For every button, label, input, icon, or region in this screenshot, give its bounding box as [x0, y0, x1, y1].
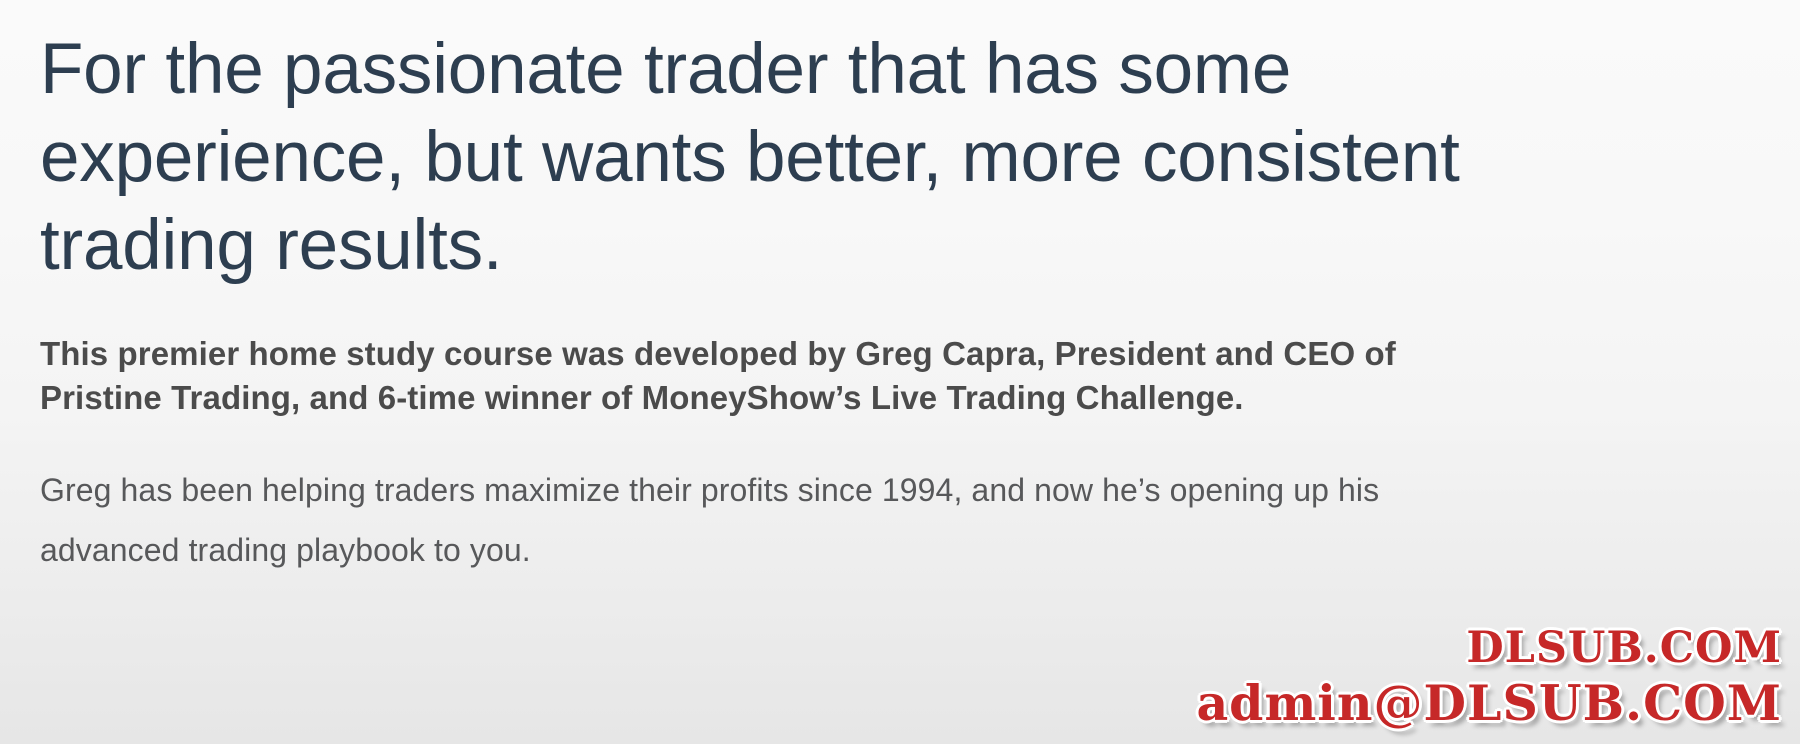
headline-lead-spacer — [40, 290, 1780, 332]
page-root: For the passionate trader that has some … — [0, 0, 1800, 744]
watermark-overlay: DLSUB.COM admin@DLSUB.COM — [1196, 627, 1782, 728]
lead-body-spacer — [40, 420, 1780, 460]
hero-content: For the passionate trader that has some … — [40, 26, 1780, 580]
watermark-email-label: admin@DLSUB.COM — [1196, 679, 1782, 728]
body-paragraph: Greg has been helping traders maximize t… — [40, 460, 1520, 580]
watermark-site-label: DLSUB.COM — [1196, 627, 1782, 670]
lead-paragraph: This premier home study course was devel… — [40, 332, 1510, 420]
page-title: For the passionate trader that has some … — [40, 26, 1550, 290]
